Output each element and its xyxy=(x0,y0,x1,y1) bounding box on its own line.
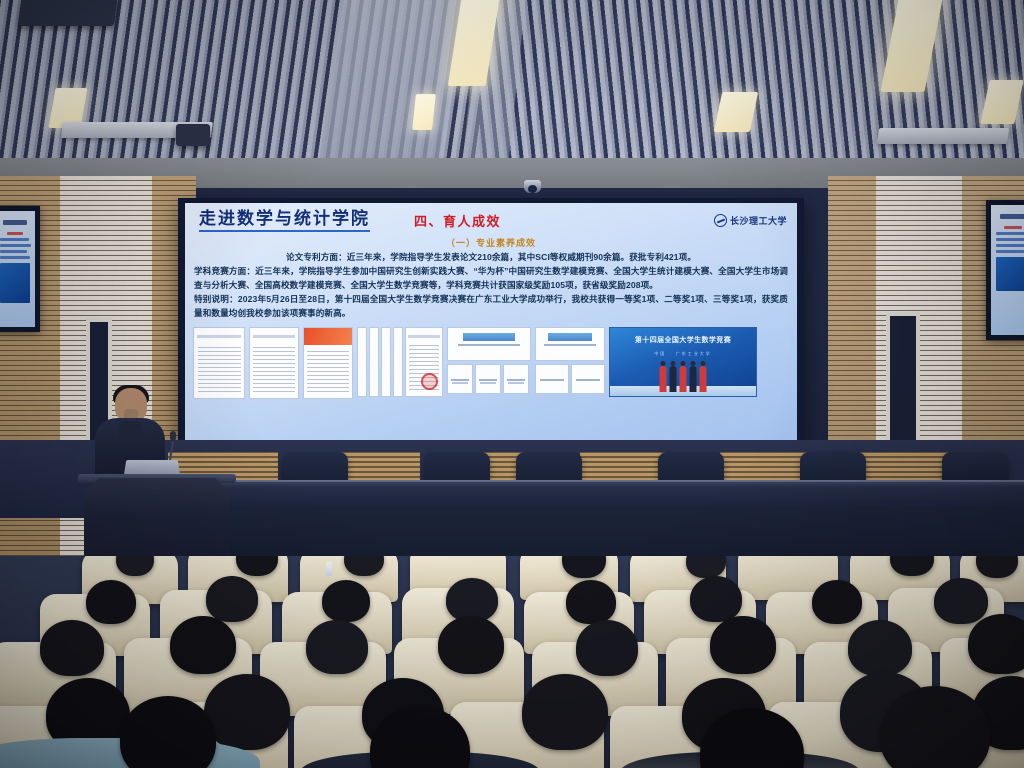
microphone-icon xyxy=(170,431,176,441)
left-side-display-screen xyxy=(0,211,35,327)
gallery-thumb xyxy=(535,364,569,394)
side-line xyxy=(1004,226,1021,229)
audience-person-head xyxy=(438,616,504,674)
chart-line xyxy=(544,344,596,346)
chart-line xyxy=(576,379,600,381)
gallery-document xyxy=(249,327,299,399)
audience-person-head xyxy=(690,576,742,622)
slide-paragraph-3: 特别说明：2023年5月26日至28日，第十四届全国大学生数学竞赛决赛在广东工业… xyxy=(194,293,788,321)
left-side-display xyxy=(0,206,40,332)
gallery-chart-1 xyxy=(447,327,531,361)
gallery-chart-2 xyxy=(535,327,605,361)
gallery-col-5 xyxy=(447,327,531,394)
chart-bar xyxy=(548,333,592,341)
gallery-award-certificate xyxy=(405,327,443,397)
audience-person-head xyxy=(576,620,638,676)
speaker-collar xyxy=(118,421,142,441)
audience-person-head xyxy=(306,620,368,674)
side-display-photo xyxy=(996,257,1024,291)
slide-paragraph-2: 学科竞赛方面：近三年来，学院指导学生参加中国研究生创新实践大赛、“华为杯”中国研… xyxy=(194,265,788,293)
gallery-col-6 xyxy=(535,327,605,394)
chart-line xyxy=(479,379,497,381)
lecture-hall-photo: 走进数学与统计学院 四、育人成效 长沙理工大学 （一）专业素养成效 论文专利方面… xyxy=(0,0,1024,768)
slide-header: 走进数学与统计学院 四、育人成效 长沙理工大学 xyxy=(185,203,797,232)
audience-person-head xyxy=(206,576,258,622)
university-logo: 长沙理工大学 xyxy=(714,214,787,227)
certificate-strip xyxy=(357,327,443,397)
side-display-photo xyxy=(0,263,30,303)
person-figure xyxy=(690,366,697,392)
side-line xyxy=(0,244,31,247)
gallery-document-red xyxy=(303,327,353,399)
gallery-col-1 xyxy=(193,327,245,399)
chart-line xyxy=(540,379,564,381)
audience-person-head xyxy=(322,580,370,622)
doc-lines xyxy=(198,345,241,393)
audience-person-head xyxy=(170,616,236,674)
photo-banner-subtitle: 中国 · 广东工业大学 xyxy=(610,351,756,357)
gallery-document xyxy=(193,327,245,399)
audience-person-head xyxy=(968,614,1024,674)
audience-person-head xyxy=(812,580,862,624)
dome-camera-icon xyxy=(524,180,541,193)
gallery-thumb xyxy=(503,364,529,394)
gallery-small-row-2 xyxy=(535,364,605,394)
side-line xyxy=(3,220,27,225)
ceiling-light-4 xyxy=(412,94,436,130)
chart-line xyxy=(452,382,467,384)
gallery-thumb xyxy=(475,364,501,394)
right-side-display xyxy=(986,200,1024,340)
audience-person-head xyxy=(934,578,988,624)
side-line xyxy=(1000,214,1024,219)
audience-person-head xyxy=(40,620,104,676)
person-figure xyxy=(680,366,687,392)
side-line xyxy=(7,232,22,235)
audience-person-head xyxy=(848,620,912,676)
audience-person-head xyxy=(522,674,608,750)
slide-image-gallery: 第十四届全国大学生数学竞赛 中国 · 广东工业大学 xyxy=(185,321,797,399)
head-table xyxy=(168,482,1024,512)
audience-person-head xyxy=(204,674,290,750)
photo-banner-title: 第十四届全国大学生数学竞赛 xyxy=(610,335,756,345)
slide-paragraph-1: 论文专利方面：近三年来，学院指导学生发表论文210余篇，其中SCI等权威期刊90… xyxy=(194,251,788,265)
audience-person-head xyxy=(710,616,776,674)
chart-bar xyxy=(463,333,516,341)
person-figure xyxy=(700,366,707,392)
side-line xyxy=(0,250,27,253)
university-logo-mark-icon xyxy=(714,214,727,227)
university-logo-text: 长沙理工大学 xyxy=(730,214,787,227)
gallery-col-2 xyxy=(249,327,299,399)
slide-title: 走进数学与统计学院 xyxy=(199,208,370,232)
audience-person-head xyxy=(86,580,136,624)
slide-subtitle: （一）专业素养成效 xyxy=(185,236,797,249)
doc-lines xyxy=(307,350,348,392)
certificate xyxy=(393,327,403,397)
chart-line xyxy=(480,382,495,384)
person-figure xyxy=(670,366,677,392)
photo-people-group xyxy=(660,366,707,392)
competition-team-photo: 第十四届全国大学生数学竞赛 中国 · 广东工业大学 xyxy=(609,327,757,397)
slide-section-heading: 四、育人成效 xyxy=(414,211,501,230)
chart-line xyxy=(507,379,525,381)
side-line xyxy=(996,238,1024,241)
gallery-col-4 xyxy=(357,327,443,397)
projector-mount-left xyxy=(18,0,118,26)
gallery-col-3 xyxy=(303,327,353,399)
right-side-display-screen xyxy=(991,205,1024,335)
slide-body: 论文专利方面：近三年来，学院指导学生发表论文210余篇，其中SCI等权威期刊90… xyxy=(185,251,797,321)
chart-line xyxy=(451,379,469,381)
certificate xyxy=(369,327,379,397)
gallery-col-photo: 第十四届全国大学生数学竞赛 中国 · 广东工业大学 xyxy=(609,327,757,397)
speaker-box-ceiling xyxy=(176,124,210,146)
air-vent-right xyxy=(877,128,1010,144)
side-line xyxy=(0,238,29,241)
projection-screen: 走进数学与统计学院 四、育人成效 长沙理工大学 （一）专业素养成效 论文专利方面… xyxy=(185,203,797,443)
water-bottle[interactable] xyxy=(326,562,332,576)
doc-lines xyxy=(253,345,294,393)
audience-area xyxy=(0,556,1024,768)
side-line xyxy=(996,250,1024,253)
ceiling-slats-right xyxy=(478,0,1024,180)
side-line xyxy=(0,256,30,259)
gallery-small-row xyxy=(447,364,531,394)
gallery-thumb xyxy=(447,364,473,394)
chart-line xyxy=(458,344,520,346)
certificate xyxy=(381,327,391,397)
certificate xyxy=(357,327,367,397)
side-line xyxy=(996,232,1024,235)
ceiling xyxy=(0,0,1024,180)
doc-lines xyxy=(409,344,440,390)
gallery-thumb xyxy=(571,364,605,394)
audience-person-head xyxy=(566,580,616,624)
side-line xyxy=(996,244,1024,247)
person-figure xyxy=(660,366,667,392)
chart-line xyxy=(508,382,523,384)
